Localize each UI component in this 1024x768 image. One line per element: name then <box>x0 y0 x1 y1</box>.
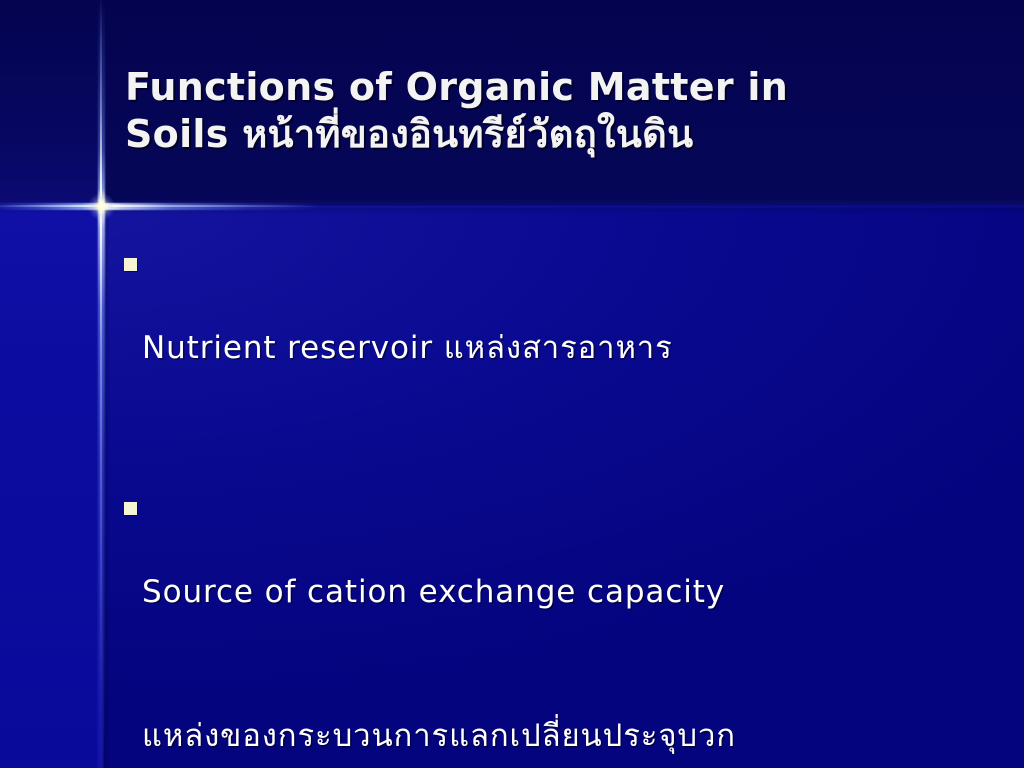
slide-title-line-1: Functions of Organic Matter in <box>125 65 788 109</box>
list-item-line-2: แหล่งของกระบวนการแลกเปลี่ยนประจุบวก <box>142 712 968 760</box>
slide-title-line-2-english: Soils <box>125 112 242 156</box>
list-item-line-1: Source of cation exchange capacity <box>142 568 968 616</box>
bullet-list: Nutrient reservoir แหล่งสารอาหาร Source … <box>118 228 968 768</box>
square-bullet-icon <box>124 502 137 515</box>
square-bullet-icon <box>124 258 137 271</box>
list-item: Source of cation exchange capacity แหล่ง… <box>118 472 968 768</box>
list-item-text: Source of cation exchange capacity แหล่ง… <box>142 472 968 768</box>
list-item: Nutrient reservoir แหล่งสารอาหาร <box>118 228 968 468</box>
slide-content: Functions of Organic Matter in Soils หน้… <box>0 0 1024 768</box>
slide-title: Functions of Organic Matter in Soils หน้… <box>125 64 955 158</box>
list-item-text: Nutrient reservoir แหล่งสารอาหาร <box>142 228 968 468</box>
presentation-slide: Functions of Organic Matter in Soils หน้… <box>0 0 1024 768</box>
slide-title-line-2-thai: หน้าที่ของอินทรีย์วัตถุในดิน <box>242 112 693 156</box>
list-item-line-1: Nutrient reservoir แหล่งสารอาหาร <box>142 324 968 372</box>
